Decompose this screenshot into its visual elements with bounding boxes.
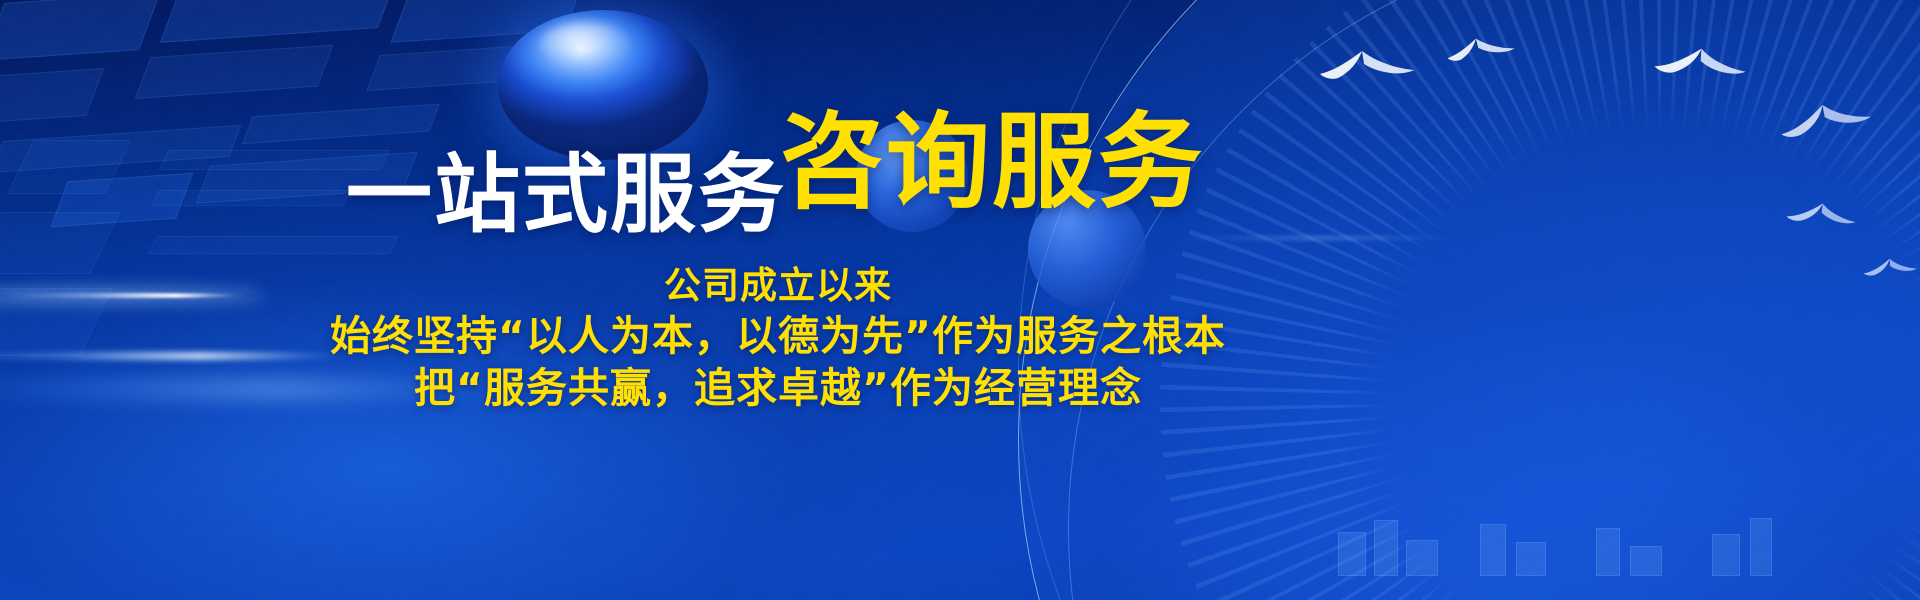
headline-accent: 咨询服务 — [780, 110, 1204, 214]
light-streak-primary — [0, 293, 260, 298]
subtitle-line-3: 把“服务共赢，追求卓越”作为经营理念 — [0, 362, 1556, 414]
light-streak-glow — [0, 378, 540, 400]
light-streak-right — [1170, 236, 1470, 240]
data-chip-cluster — [1330, 462, 1850, 582]
subtitle-line-2: 始终坚持“以人为本，以德为先”作为服务之根本 — [0, 310, 1556, 362]
blue-sphere-icon-small — [1028, 190, 1146, 308]
seagull-icon — [1652, 43, 1759, 88]
service-banner: 一站式服务 咨询服务 公司成立以来 始终坚持“以人为本，以德为先”作为服务之根本… — [0, 0, 1920, 600]
subtitle-block: 公司成立以来 始终坚持“以人为本，以德为先”作为服务之根本 把“服务共赢，追求卓… — [0, 262, 1556, 414]
blue-sphere-icon-medium — [856, 120, 968, 232]
arc-line-inner — [1068, 0, 1920, 600]
headline: 一站式服务 咨询服务 — [0, 72, 1556, 232]
subtitle-line-1: 公司成立以来 — [0, 262, 1556, 310]
diagonal-hatch-pattern-secondary — [0, 0, 1920, 600]
geometric-plate-left-secondary — [0, 120, 603, 420]
arc-line-main — [1018, 0, 1920, 600]
orb-highlight — [540, 22, 632, 66]
headline-primary: 一站式服务 — [346, 152, 786, 238]
arc-line-outer — [1018, 0, 1920, 600]
seagull-icon — [1444, 32, 1526, 69]
diagonal-hatch-pattern — [0, 0, 1920, 600]
seagull-icon — [1318, 48, 1428, 88]
seagull-icon — [1784, 198, 1866, 235]
glowing-orb-icon — [498, 10, 708, 160]
radial-fan-pattern — [1160, 0, 1920, 600]
light-streak-secondary — [0, 352, 360, 360]
fan-fill — [1020, 0, 1920, 600]
geometric-plate-left — [0, 0, 741, 365]
seagull-icon — [1861, 255, 1920, 282]
seagull-icon — [1775, 92, 1885, 148]
